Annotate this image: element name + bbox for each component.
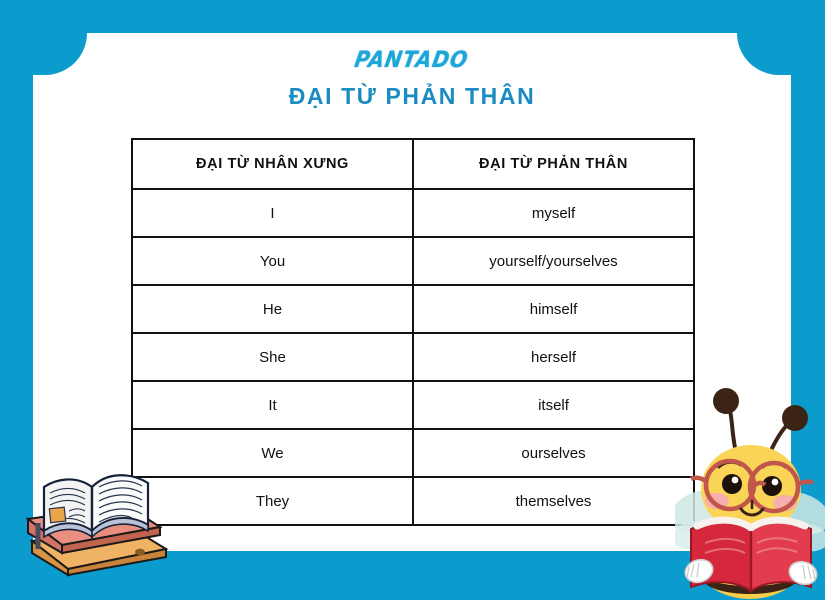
cell-reflexive-pronoun: itself: [413, 381, 694, 429]
table-row: Ititself: [132, 381, 694, 429]
cell-reflexive-pronoun: ourselves: [413, 429, 694, 477]
pronoun-table-container: ĐẠI TỪ NHÂN XƯNG ĐẠI TỪ PHẢN THÂN Imysel…: [131, 138, 695, 526]
column-header-personal-pronoun: ĐẠI TỪ NHÂN XƯNG: [132, 139, 413, 189]
column-header-reflexive-pronoun: ĐẠI TỪ PHẢN THÂN: [413, 139, 694, 189]
table-body: ImyselfYouyourself/yourselvesHehimselfSh…: [132, 189, 694, 525]
cell-personal-pronoun: They: [132, 477, 413, 525]
bee-hands: [682, 556, 819, 588]
table-row: Theythemselves: [132, 477, 694, 525]
cell-personal-pronoun: We: [132, 429, 413, 477]
cell-personal-pronoun: You: [132, 237, 413, 285]
table-head: ĐẠI TỪ NHÂN XƯNG ĐẠI TỪ PHẢN THÂN: [132, 139, 694, 189]
table-row: Hehimself: [132, 285, 694, 333]
card-header: PANTADO ĐẠI TỪ PHẢN THÂN: [33, 33, 791, 110]
page-title: ĐẠI TỪ PHẢN THÂN: [33, 83, 791, 110]
cell-reflexive-pronoun: myself: [413, 189, 694, 237]
cell-reflexive-pronoun: themselves: [413, 477, 694, 525]
table-row: Weourselves: [132, 429, 694, 477]
content-card: PANTADO ĐẠI TỪ PHẢN THÂN ĐẠI TỪ NHÂN XƯN…: [33, 33, 791, 551]
table-row: Sheherself: [132, 333, 694, 381]
pronoun-table: ĐẠI TỪ NHÂN XƯNG ĐẠI TỪ PHẢN THÂN Imysel…: [131, 138, 695, 526]
pantado-logo: PANTADO: [353, 46, 471, 73]
table-row: Imyself: [132, 189, 694, 237]
cell-personal-pronoun: She: [132, 333, 413, 381]
cell-reflexive-pronoun: yourself/yourselves: [413, 237, 694, 285]
cell-reflexive-pronoun: himself: [413, 285, 694, 333]
table-row: Youyourself/yourselves: [132, 237, 694, 285]
cell-personal-pronoun: It: [132, 381, 413, 429]
cell-personal-pronoun: I: [132, 189, 413, 237]
cell-personal-pronoun: He: [132, 285, 413, 333]
table-header-row: ĐẠI TỪ NHÂN XƯNG ĐẠI TỪ PHẢN THÂN: [132, 139, 694, 189]
cell-reflexive-pronoun: herself: [413, 333, 694, 381]
